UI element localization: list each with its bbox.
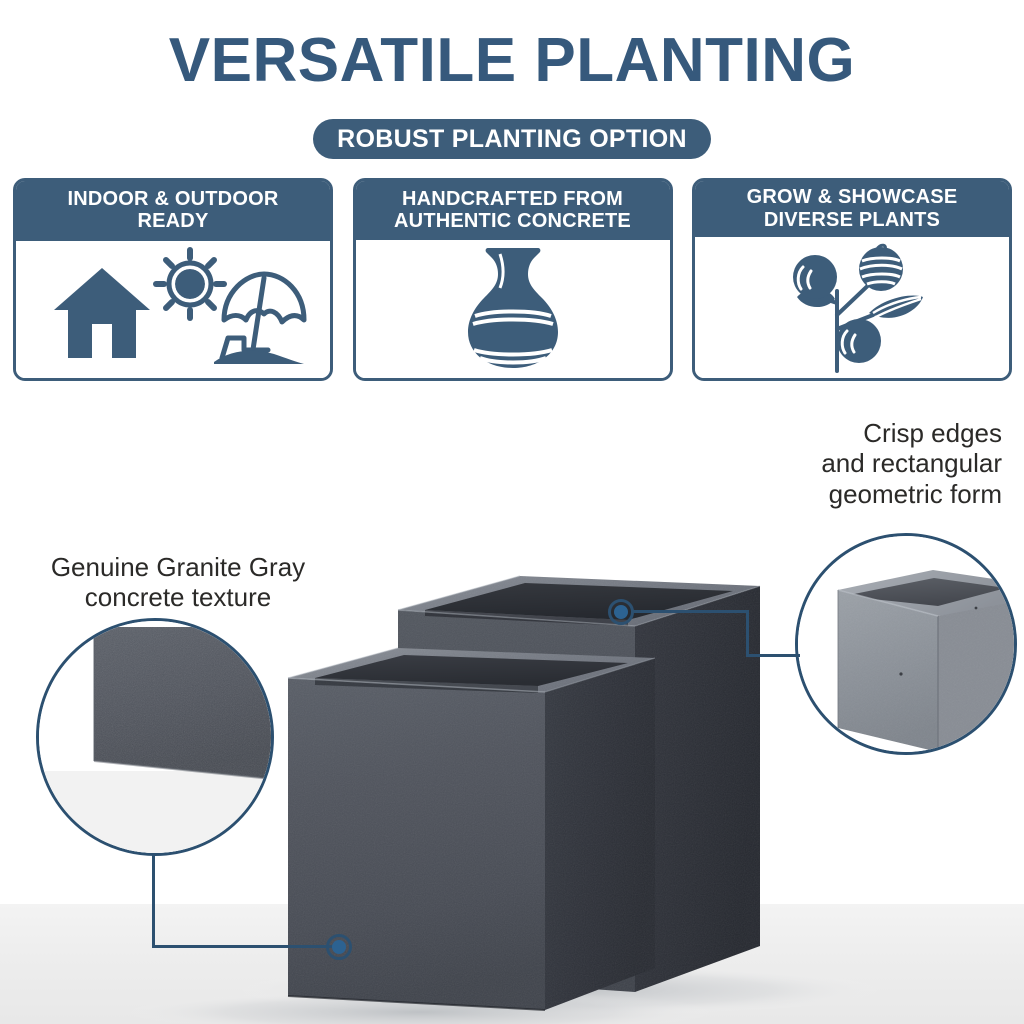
feature-title-diverse-plants: GROW & SHOWCASE DIVERSE PLANTS — [747, 186, 958, 231]
berry-bottom — [837, 319, 881, 363]
leader-right-seg3 — [746, 654, 800, 657]
infographic-canvas: VERSATILE PLANTING ROBUST PLANTING OPTIO… — [0, 0, 1024, 1024]
callout-dot-form[interactable] — [608, 599, 634, 625]
page-title: VERSATILE PLANTING — [0, 30, 1024, 92]
striped-berry — [859, 245, 903, 291]
indoor-outdoor-icon-group — [38, 246, 308, 370]
vase-icon — [448, 244, 578, 372]
feature-box-header: INDOOR & OUTDOOR READY — [16, 181, 330, 241]
feature-box-header: GROW & SHOWCASE DIVERSE PLANTS — [695, 181, 1009, 237]
feature-box-diverse-plants: GROW & SHOWCASE DIVERSE PLANTS — [692, 178, 1012, 381]
berry-branch-icon — [777, 241, 927, 373]
beach-umbrella-icon — [214, 274, 304, 364]
feature-box-authentic-concrete: HANDCRAFTED FROM AUTHENTIC CONCRETE — [353, 178, 673, 381]
leader-right-seg2 — [746, 610, 749, 657]
feature-title-authentic-concrete: HANDCRAFTED FROM AUTHENTIC CONCRETE — [394, 188, 631, 233]
feature-box-header: HANDCRAFTED FROM AUTHENTIC CONCRETE — [356, 181, 670, 240]
feature-title-indoor-outdoor: INDOOR & OUTDOOR READY — [68, 188, 279, 233]
feature-box-row: INDOOR & OUTDOOR READY — [13, 178, 1012, 381]
subtitle-badge-label: ROBUST PLANTING OPTION — [337, 125, 687, 154]
leader-right-seg1 — [633, 610, 749, 613]
feature-box-icons — [695, 237, 1009, 379]
sun-icon — [156, 250, 224, 318]
leader-left-vertical — [152, 855, 155, 948]
subtitle-badge: ROBUST PLANTING OPTION — [313, 119, 711, 159]
edge-zoom-content — [798, 536, 1014, 752]
feature-box-icons — [16, 241, 330, 378]
magnifier-texture-zoom — [36, 618, 274, 856]
callout-dot-texture[interactable] — [326, 934, 352, 960]
magnifier-edge-zoom — [795, 533, 1017, 755]
berry-left — [793, 255, 837, 299]
house-icon — [54, 268, 150, 358]
leader-left-horizontal — [152, 945, 340, 948]
leaf-right — [869, 296, 923, 318]
feature-box-indoor-outdoor: INDOOR & OUTDOOR READY — [13, 178, 333, 381]
feature-box-icons — [356, 240, 670, 378]
texture-zoom-content — [39, 621, 271, 853]
